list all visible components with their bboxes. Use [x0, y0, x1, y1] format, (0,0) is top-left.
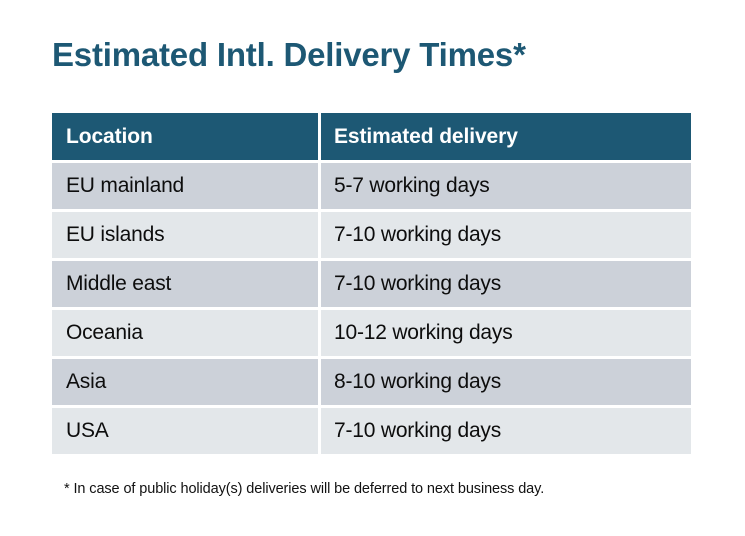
table-row: EU mainland 5-7 working days: [52, 163, 691, 209]
cell-delivery: 8-10 working days: [321, 359, 691, 405]
column-header-estimated-delivery: Estimated delivery: [321, 113, 691, 160]
table-row: Middle east 7-10 working days: [52, 261, 691, 307]
cell-location: Asia: [52, 359, 318, 405]
column-header-location: Location: [52, 113, 318, 160]
cell-location: EU islands: [52, 212, 318, 258]
cell-location: Middle east: [52, 261, 318, 307]
cell-location: Oceania: [52, 310, 318, 356]
estimated-delivery-table: Location Estimated delivery EU mainland …: [52, 113, 691, 454]
delivery-times-page: Estimated Intl. Delivery Times* Location…: [0, 0, 745, 536]
cell-location: EU mainland: [52, 163, 318, 209]
footnote: * In case of public holiday(s) deliverie…: [64, 481, 544, 497]
page-title: Estimated Intl. Delivery Times*: [52, 36, 526, 74]
table-row: Asia 8-10 working days: [52, 359, 691, 405]
table-row: EU islands 7-10 working days: [52, 212, 691, 258]
table-row: USA 7-10 working days: [52, 408, 691, 454]
cell-delivery: 5-7 working days: [321, 163, 691, 209]
cell-location: USA: [52, 408, 318, 454]
table-row: Oceania 10-12 working days: [52, 310, 691, 356]
cell-delivery: 7-10 working days: [321, 212, 691, 258]
table-header-row: Location Estimated delivery: [52, 113, 691, 160]
cell-delivery: 7-10 working days: [321, 261, 691, 307]
cell-delivery: 10-12 working days: [321, 310, 691, 356]
cell-delivery: 7-10 working days: [321, 408, 691, 454]
